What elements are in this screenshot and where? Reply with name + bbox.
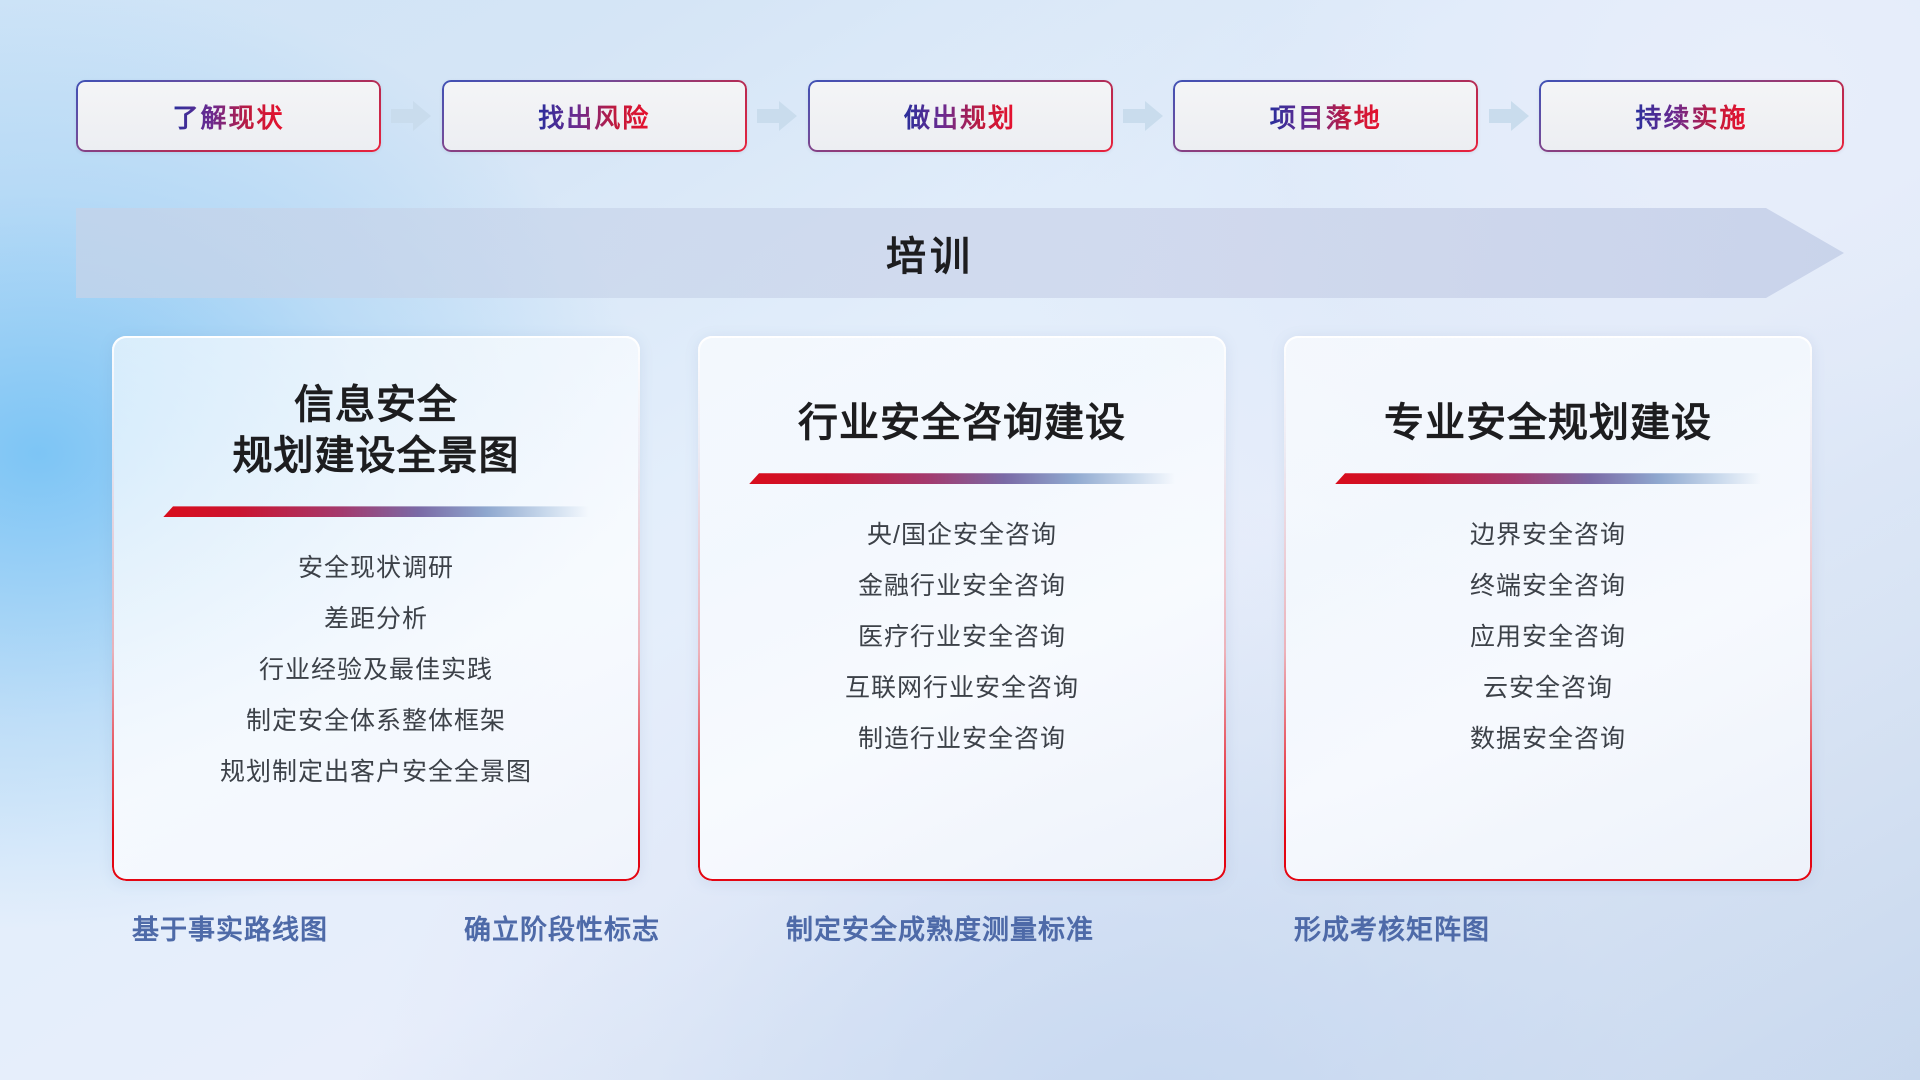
card-title: 专业安全规划建设 <box>1318 380 1778 449</box>
banner-title: 培训 <box>76 208 1844 298</box>
card-title: 行业安全咨询建设 <box>732 380 1192 449</box>
step-button-0[interactable]: 了解现状 <box>76 80 381 152</box>
bottom-label-3: 形成考核矩阵图 <box>1294 908 1490 947</box>
list-item: 应用安全咨询 <box>1470 612 1626 663</box>
arrow-right-icon <box>391 99 431 133</box>
card-industry-security-consulting[interactable]: 行业安全咨询建设 央/国企安全咨询 金融行业安全咨询 医疗行业安全咨询 互联网行… <box>698 336 1226 881</box>
list-item: 制定安全体系整体框架 <box>246 696 506 747</box>
step-button-4[interactable]: 持续实施 <box>1539 80 1844 152</box>
list-item: 差距分析 <box>324 594 428 645</box>
process-step-row: 了解现状 找出风险 做出规划 项目落地 持续实施 <box>76 80 1844 152</box>
card-information-security-panorama[interactable]: 信息安全 规划建设全景图 安全现状调研 差距分析 行业经验及最佳实践 制定安全体… <box>112 336 640 881</box>
card-divider <box>163 506 589 517</box>
step-button-3[interactable]: 项目落地 <box>1173 80 1478 152</box>
card-title-line1: 信息安全 <box>146 380 606 431</box>
bottom-label-1: 确立阶段性标志 <box>464 908 660 947</box>
list-item: 边界安全咨询 <box>1470 510 1626 561</box>
card-title-line2: 规划建设全景图 <box>146 431 606 482</box>
training-banner: 培训 <box>76 208 1844 298</box>
card-divider <box>749 473 1175 484</box>
list-item: 医疗行业安全咨询 <box>858 612 1066 663</box>
card-title: 信息安全 规划建设全景图 <box>146 380 606 482</box>
step-label: 做出规划 <box>904 98 1016 135</box>
step-button-1[interactable]: 找出风险 <box>442 80 747 152</box>
step-button-2[interactable]: 做出规划 <box>808 80 1113 152</box>
card-title-line1: 专业安全规划建设 <box>1318 398 1778 449</box>
card-row: 信息安全 规划建设全景图 安全现状调研 差距分析 行业经验及最佳实践 制定安全体… <box>112 336 1812 881</box>
list-item: 央/国企安全咨询 <box>867 510 1057 561</box>
card-divider <box>1335 473 1761 484</box>
bottom-label-row: 基于事实路线图 确立阶段性标志 制定安全成熟度测量标准 形成考核矩阵图 <box>0 908 1920 968</box>
list-item: 制造行业安全咨询 <box>858 714 1066 765</box>
arrow-right-icon <box>757 99 797 133</box>
list-item: 云安全咨询 <box>1483 663 1613 714</box>
step-label: 找出风险 <box>538 98 650 135</box>
card-title-line1: 行业安全咨询建设 <box>732 398 1192 449</box>
step-label: 了解现状 <box>172 98 284 135</box>
card-list: 边界安全咨询 终端安全咨询 应用安全咨询 云安全咨询 数据安全咨询 <box>1318 510 1778 765</box>
list-item: 安全现状调研 <box>298 543 454 594</box>
step-label: 持续实施 <box>1635 98 1747 135</box>
list-item: 规划制定出客户安全全景图 <box>220 747 532 798</box>
list-item: 终端安全咨询 <box>1470 561 1626 612</box>
arrow-right-icon <box>1123 99 1163 133</box>
card-list: 央/国企安全咨询 金融行业安全咨询 医疗行业安全咨询 互联网行业安全咨询 制造行… <box>732 510 1192 765</box>
card-professional-security-planning[interactable]: 专业安全规划建设 边界安全咨询 终端安全咨询 应用安全咨询 云安全咨询 数据安全… <box>1284 336 1812 881</box>
bottom-label-2: 制定安全成熟度测量标准 <box>786 908 1094 947</box>
list-item: 互联网行业安全咨询 <box>845 663 1079 714</box>
list-item: 数据安全咨询 <box>1470 714 1626 765</box>
list-item: 行业经验及最佳实践 <box>259 645 493 696</box>
card-list: 安全现状调研 差距分析 行业经验及最佳实践 制定安全体系整体框架 规划制定出客户… <box>146 543 606 798</box>
bottom-label-0: 基于事实路线图 <box>132 908 328 947</box>
arrow-right-icon <box>1489 99 1529 133</box>
step-label: 项目落地 <box>1270 98 1382 135</box>
list-item: 金融行业安全咨询 <box>858 561 1066 612</box>
